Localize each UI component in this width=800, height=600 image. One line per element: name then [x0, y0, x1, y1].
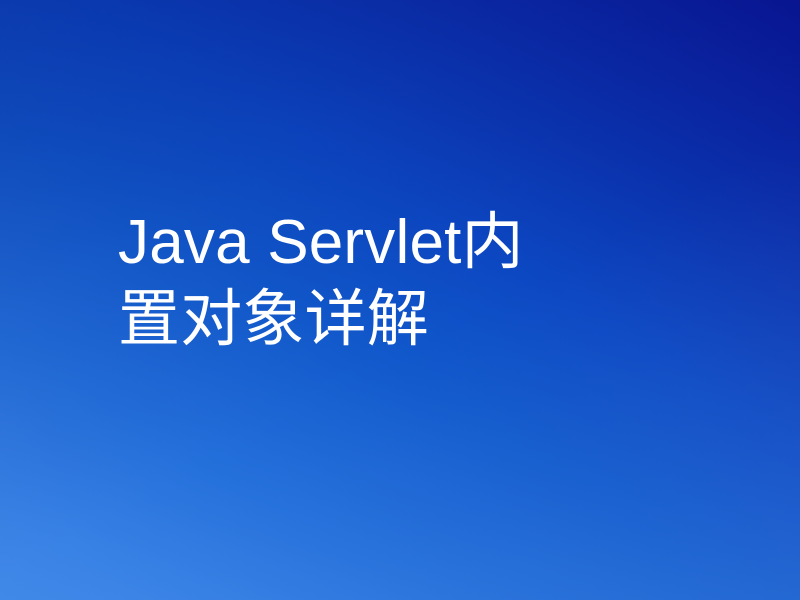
title-slide: Java Servlet内 置对象详解	[0, 0, 800, 600]
page-title: Java Servlet内 置对象详解	[118, 204, 730, 358]
title-block: Java Servlet内 置对象详解	[118, 204, 730, 358]
